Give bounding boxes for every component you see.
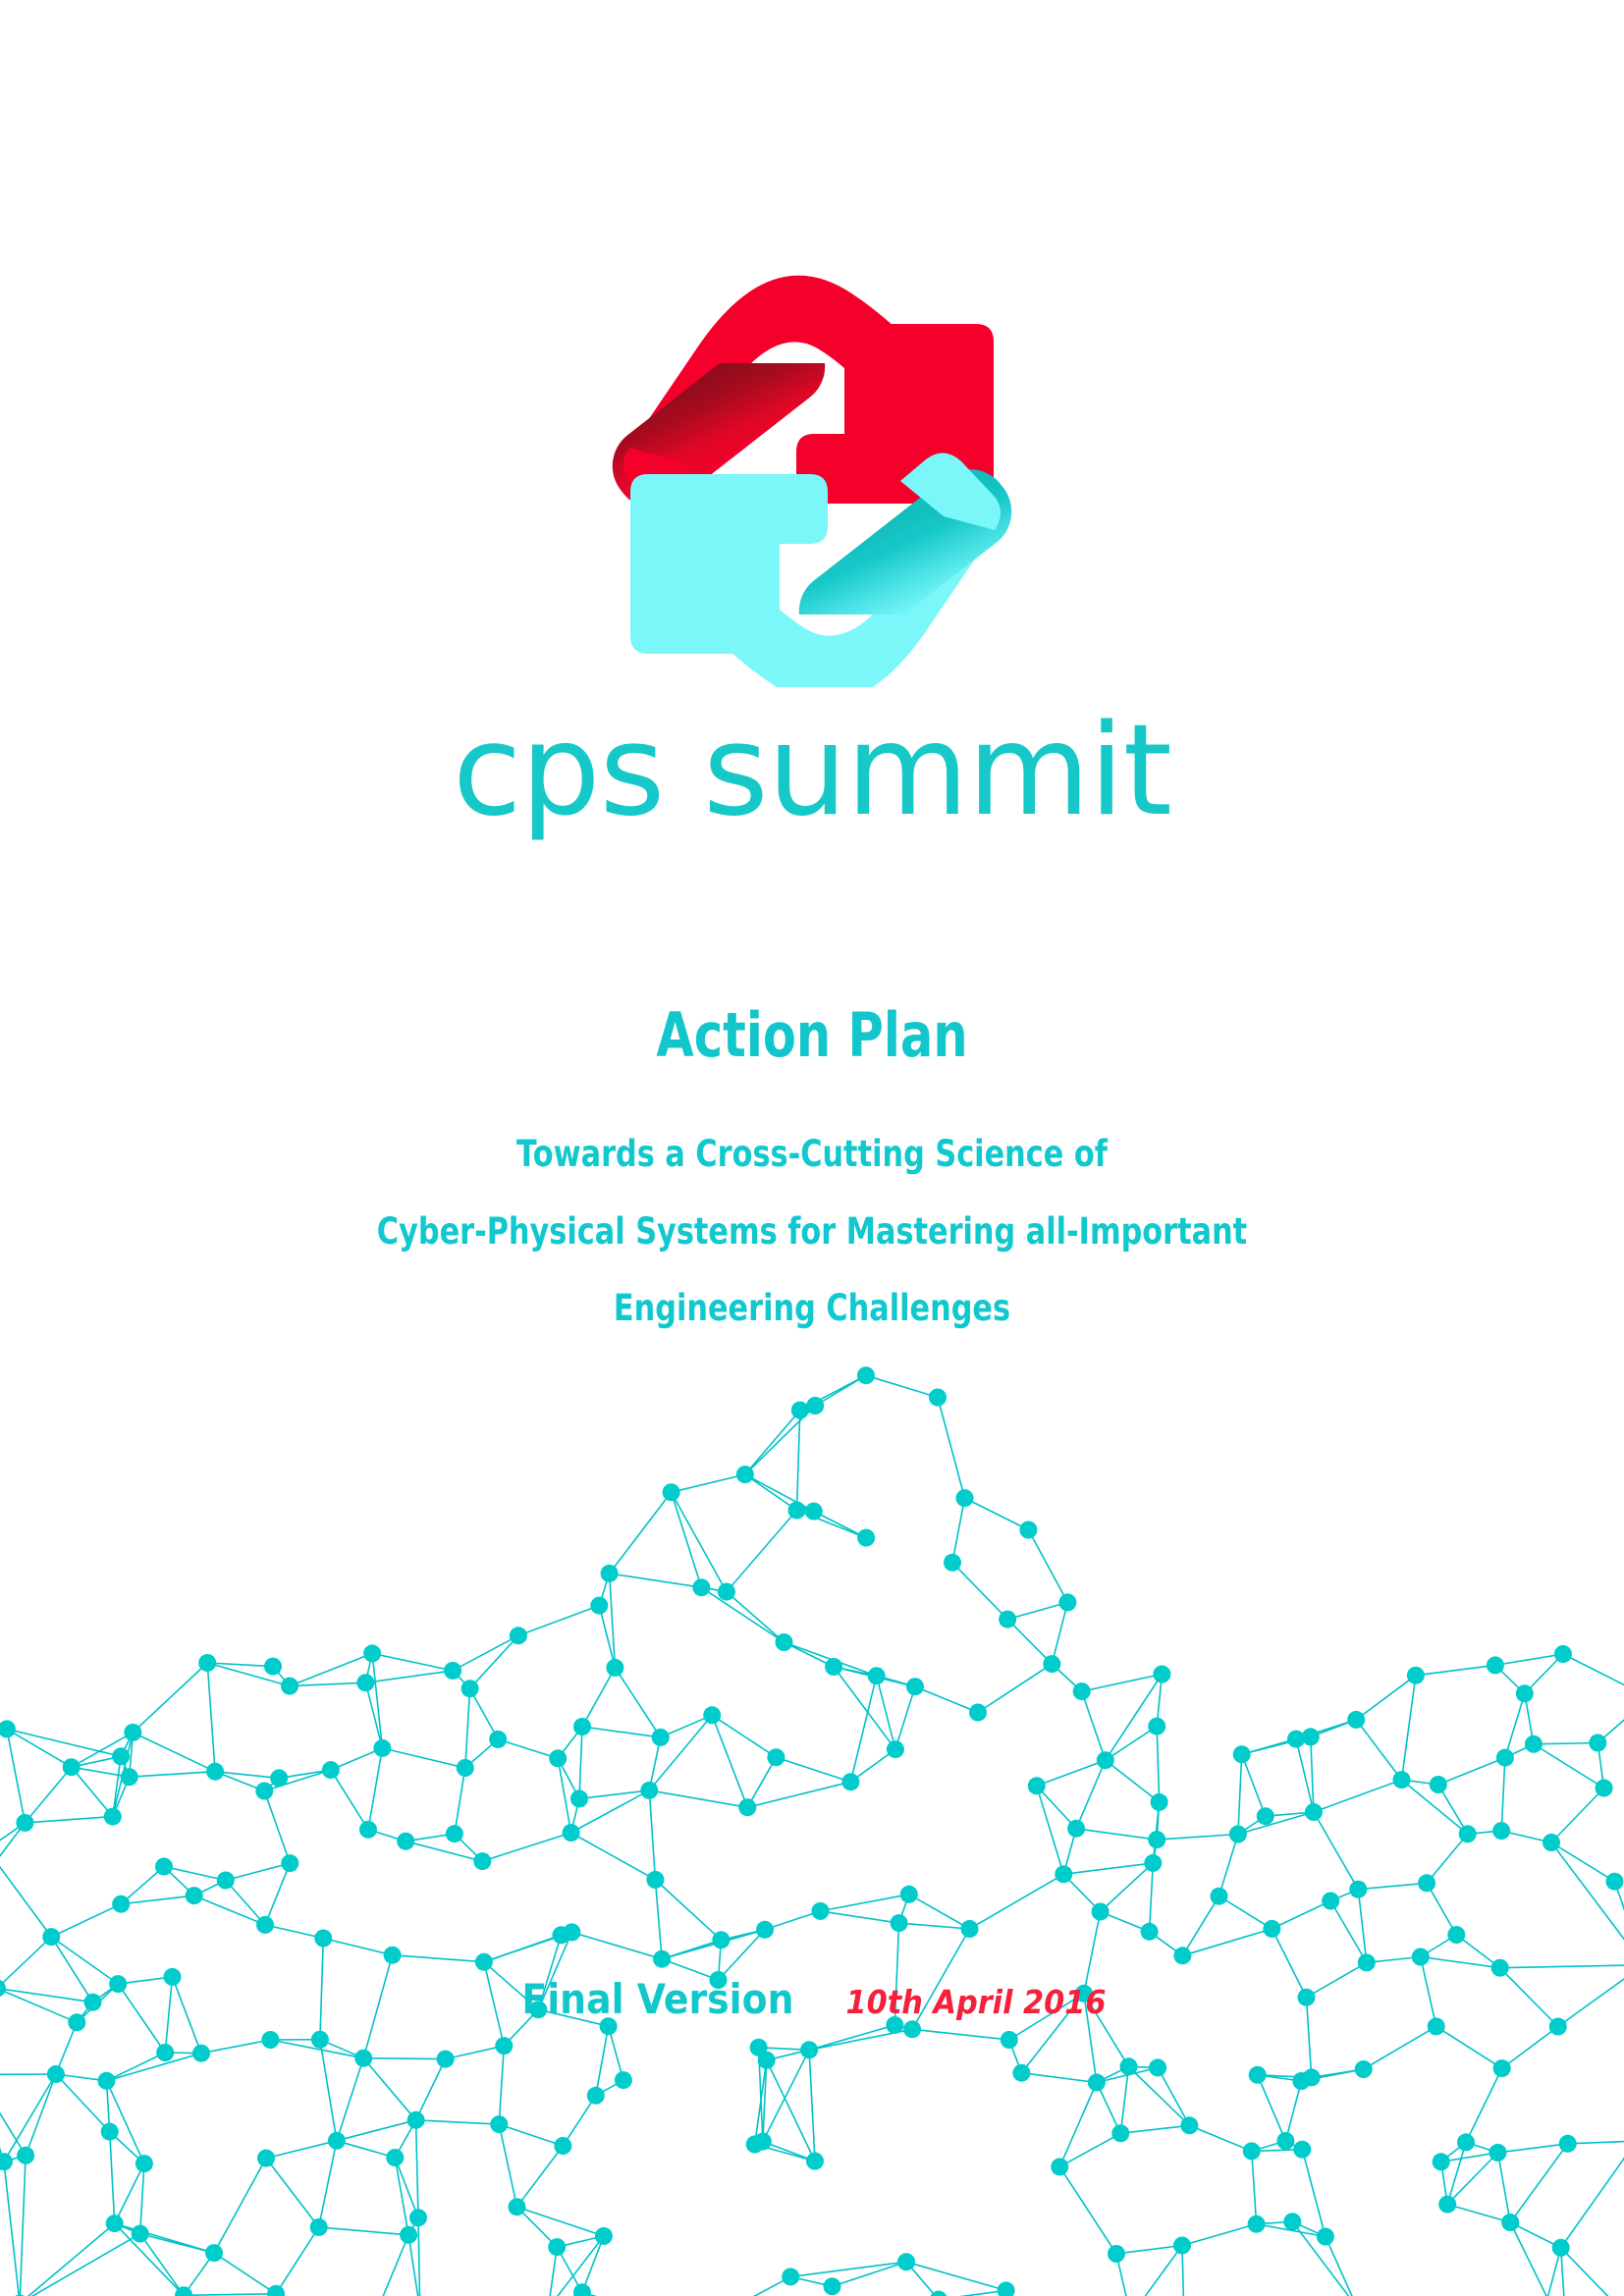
subtitle-line-3: Engineering Challenges [146,1270,1478,1347]
subtitle-line-1: Towards a Cross-Cutting Science of [146,1116,1478,1193]
version-date: 10th April 2016 [845,1983,1106,2021]
cover-page: cps summit Action Plan Towards a Cross-C… [0,0,1624,2296]
network-graph-decoration [0,1354,1624,2296]
logo-wordmark: cps summit [453,709,1171,834]
page-title: Action Plan [162,1001,1461,1069]
title-block: Action Plan Towards a Cross-Cutting Scie… [0,1001,1624,1348]
version-label: Final Version [521,1975,793,2023]
page-subtitle: Towards a Cross-Cutting Science of Cyber… [0,1116,1624,1347]
logo-cyan-arrow [630,453,1018,687]
subtitle-line-2: Cyber-Physical Systems for Mastering all… [146,1194,1478,1270]
version-block: Final Version10th April 2016 [0,1975,1624,2023]
cps-summit-logo-icon [606,226,1018,687]
logo-block: cps summit [0,226,1624,834]
